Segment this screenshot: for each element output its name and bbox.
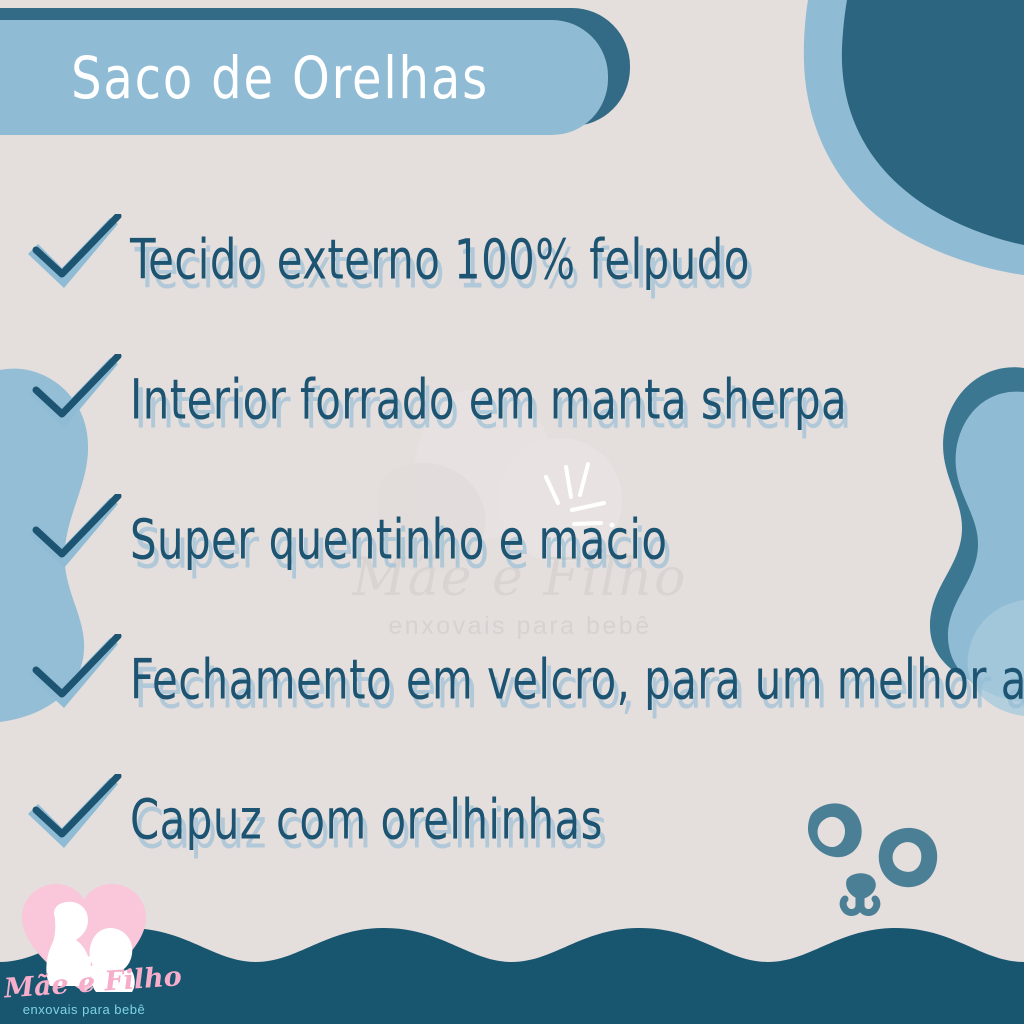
list-item-label: Tecido externo 100% felpudo xyxy=(130,228,750,292)
list-item-label: Fechamento em velcro, para um melhor aju… xyxy=(130,648,1024,712)
list-item: Fechamento em velcro, para um melhor aju… xyxy=(0,610,1024,750)
check-icon xyxy=(22,354,126,446)
poster-canvas: Mãe e Filho enxovais para bebê Saco de O… xyxy=(0,0,1024,1024)
brand-logo: Mãe e Filho enxovais para bebê xyxy=(4,876,172,1024)
list-item: Tecido externo 100% felpudo xyxy=(0,190,1024,330)
check-icon xyxy=(22,214,126,306)
list-item: Interior forrado em manta sherpa xyxy=(0,330,1024,470)
logo-tagline-text: enxovais para bebê xyxy=(4,1002,164,1017)
feature-list: Tecido externo 100% felpudo Interior for… xyxy=(0,190,1024,890)
check-icon xyxy=(22,774,126,866)
list-item-label: Interior forrado em manta sherpa xyxy=(130,368,847,432)
check-icon xyxy=(22,494,126,586)
list-item-label: Capuz com orelhinhas xyxy=(130,788,603,852)
page-title: Saco de Orelhas xyxy=(0,20,574,135)
list-item-label: Super quentinho e macio xyxy=(130,508,667,572)
list-item: Super quentinho e macio xyxy=(0,470,1024,610)
check-icon xyxy=(22,634,126,726)
title-banner: Saco de Orelhas xyxy=(0,8,660,136)
panda-face-icon xyxy=(795,795,955,920)
